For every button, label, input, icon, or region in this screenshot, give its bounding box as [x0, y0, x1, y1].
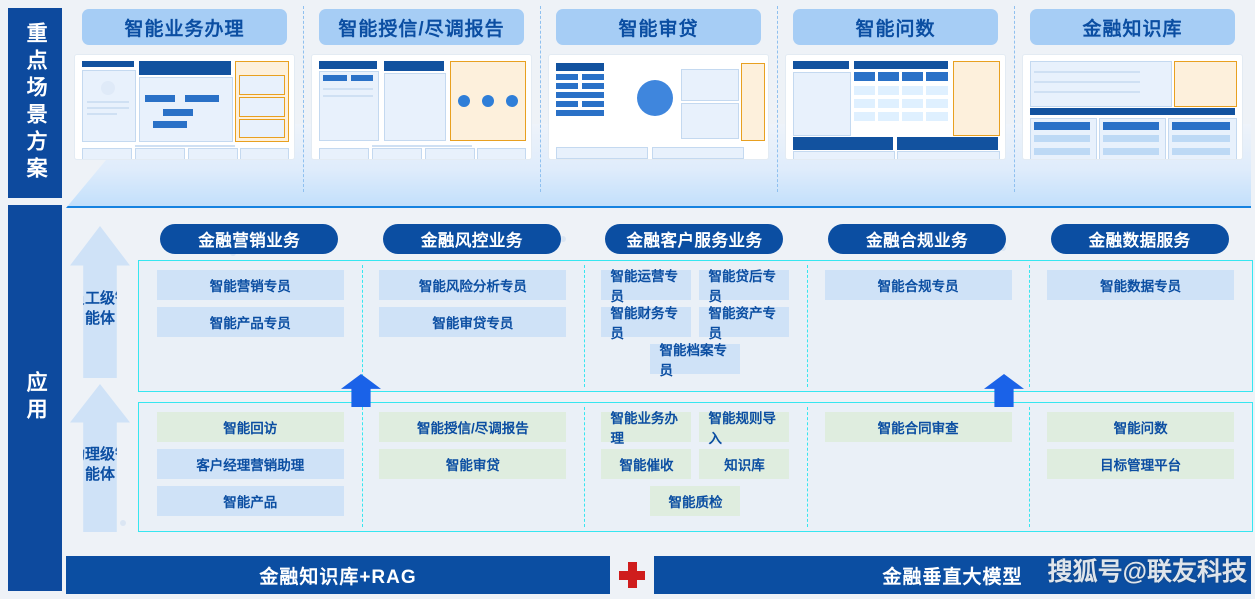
agent-chip[interactable]: 智能合规专员 — [825, 270, 1012, 300]
scenario-title-2: 智能审贷 — [556, 9, 761, 45]
plus-icon — [610, 556, 654, 594]
scenario-thumbnail-0 — [74, 54, 295, 160]
agent-chip[interactable]: 智能风险分析专员 — [379, 270, 566, 300]
domain-title-1[interactable]: 金融风控业务 — [383, 224, 561, 254]
agent-grid: 金融营销业务 金融风控业务 金融客户服务业务 金融合规业务 金融数据服务 智能营… — [138, 212, 1251, 542]
domain-title-3[interactable]: 金融合规业务 — [828, 224, 1006, 254]
agent-chip[interactable]: 智能营销专员 — [157, 270, 344, 300]
employee-columns: 智能营销专员智能产品专员 智能风险分析专员智能审贷专员 智能运营专员智能贷后专员… — [139, 261, 1252, 391]
domain-header-row: 金融营销业务 金融风控业务 金融客户服务业务 金融合规业务 金融数据服务 — [138, 224, 1251, 254]
employee-column-0: 智能营销专员智能产品专员 — [139, 261, 362, 391]
scenario-thumbnail-1 — [311, 54, 532, 160]
scenario-card-0[interactable]: 智能业务办理 — [66, 4, 303, 194]
scenario-title-4: 金融知识库 — [1030, 9, 1235, 45]
agent-chip[interactable]: 智能产品专员 — [157, 307, 344, 337]
application-area: 员工级智能体 助理级智能体 金融营销业务 金融风控业务 金融客户服务业务 金融合… — [66, 212, 1251, 542]
agent-chip[interactable]: 目标管理平台 — [1047, 449, 1234, 479]
scenario-card-3[interactable]: 智能问数 — [777, 4, 1014, 194]
scenario-thumbnail-2 — [548, 54, 769, 160]
domain-header-cell-3: 金融合规业务 — [806, 224, 1029, 254]
rail-application-label: 应用 — [22, 371, 48, 425]
domain-header-cell-2: 金融客户服务业务 — [583, 224, 806, 254]
scenario-band: 智能业务办理 — [66, 4, 1251, 204]
agent-chip[interactable]: 智能数据专员 — [1047, 270, 1234, 300]
agent-chip[interactable]: 智能财务专员 — [601, 307, 691, 337]
agent-chip[interactable]: 智能档案专员 — [650, 344, 740, 374]
domain-header-cell-4: 金融数据服务 — [1028, 224, 1251, 254]
agent-chip[interactable]: 智能贷后专员 — [699, 270, 789, 300]
agent-chip[interactable]: 智能业务办理 — [601, 412, 691, 442]
tier-label-assistant: 助理级智能体 — [70, 445, 130, 486]
agent-chip[interactable]: 智能回访 — [157, 412, 344, 442]
scenario-columns: 智能业务办理 — [66, 4, 1251, 194]
tier-label-employee: 员工级智能体 — [70, 289, 130, 330]
agent-chip[interactable]: 智能质检 — [650, 486, 740, 516]
domain-title-2[interactable]: 金融客户服务业务 — [605, 224, 783, 254]
tier-employee-panel: 智能营销专员智能产品专员 智能风险分析专员智能审贷专员 智能运营专员智能贷后专员… — [138, 260, 1253, 392]
assistant-column-0: 智能回访客户经理营销助理智能产品 — [139, 403, 362, 531]
domain-header-cell-1: 金融风控业务 — [361, 224, 584, 254]
vertical-model-bar[interactable]: 金融垂直大模型 — [654, 556, 1251, 594]
domain-title-4[interactable]: 金融数据服务 — [1051, 224, 1229, 254]
scenario-thumbnail-4 — [1022, 54, 1243, 160]
rail-key-scenarios: 重点场景方案 — [8, 8, 62, 198]
domain-title-0[interactable]: 金融营销业务 — [160, 224, 338, 254]
domain-header-cell-0: 金融营销业务 — [138, 224, 361, 254]
scenario-card-4[interactable]: 金融知识库 — [1014, 4, 1251, 194]
scenario-title-3: 智能问数 — [793, 9, 998, 45]
employee-column-2: 智能运营专员智能贷后专员智能财务专员智能资产专员智能档案专员 — [584, 261, 807, 391]
tier-arrow-employee: 员工级智能体 — [70, 226, 130, 378]
employee-column-1: 智能风险分析专员智能审贷专员 — [362, 261, 585, 391]
agent-chip[interactable]: 智能合同审查 — [825, 412, 1012, 442]
agent-chip[interactable]: 知识库 — [699, 449, 789, 479]
employee-column-3: 智能合规专员 — [807, 261, 1030, 391]
foundation-footer: 金融知识库+RAG 金融垂直大模型 — [66, 556, 1251, 594]
assistant-column-1: 智能授信/尽调报告智能审贷 — [362, 403, 585, 531]
tier-arrows: 员工级智能体 助理级智能体 — [70, 226, 130, 526]
scenario-title-0: 智能业务办理 — [82, 9, 287, 45]
agent-chip[interactable]: 智能运营专员 — [601, 270, 691, 300]
assistant-column-4: 智能问数目标管理平台 — [1029, 403, 1252, 531]
rail-key-scenarios-label: 重点场景方案 — [22, 22, 48, 184]
scenario-card-2[interactable]: 智能审贷 — [540, 4, 777, 194]
employee-column-4: 智能数据专员 — [1029, 261, 1252, 391]
rail-application: 应用 — [8, 205, 62, 591]
agent-chip[interactable]: 智能审贷 — [379, 449, 566, 479]
agent-chip[interactable]: 客户经理营销助理 — [157, 449, 344, 479]
scenario-thumbnail-3 — [785, 54, 1006, 160]
agent-chip[interactable]: 智能授信/尽调报告 — [379, 412, 566, 442]
knowledge-base-bar[interactable]: 金融知识库+RAG — [66, 556, 610, 594]
agent-chip[interactable]: 智能催收 — [601, 449, 691, 479]
assistant-column-3: 智能合同审查 — [807, 403, 1030, 531]
agent-chip[interactable]: 智能审贷专员 — [379, 307, 566, 337]
agent-chip[interactable]: 智能产品 — [157, 486, 344, 516]
tier-arrow-assistant: 助理级智能体 — [70, 384, 130, 532]
agent-chip[interactable]: 智能资产专员 — [699, 307, 789, 337]
agent-chip[interactable]: 智能问数 — [1047, 412, 1234, 442]
scenario-card-1[interactable]: 智能授信/尽调报告 — [303, 4, 540, 194]
tier-assistant-panel: 智能回访客户经理营销助理智能产品 智能授信/尽调报告智能审贷 智能业务办理智能规… — [138, 402, 1253, 532]
scenario-title-1: 智能授信/尽调报告 — [319, 9, 524, 45]
assistant-columns: 智能回访客户经理营销助理智能产品 智能授信/尽调报告智能审贷 智能业务办理智能规… — [139, 403, 1252, 531]
assistant-column-2: 智能业务办理智能规则导入智能催收知识库智能质检 — [584, 403, 807, 531]
agent-chip[interactable]: 智能规则导入 — [699, 412, 789, 442]
